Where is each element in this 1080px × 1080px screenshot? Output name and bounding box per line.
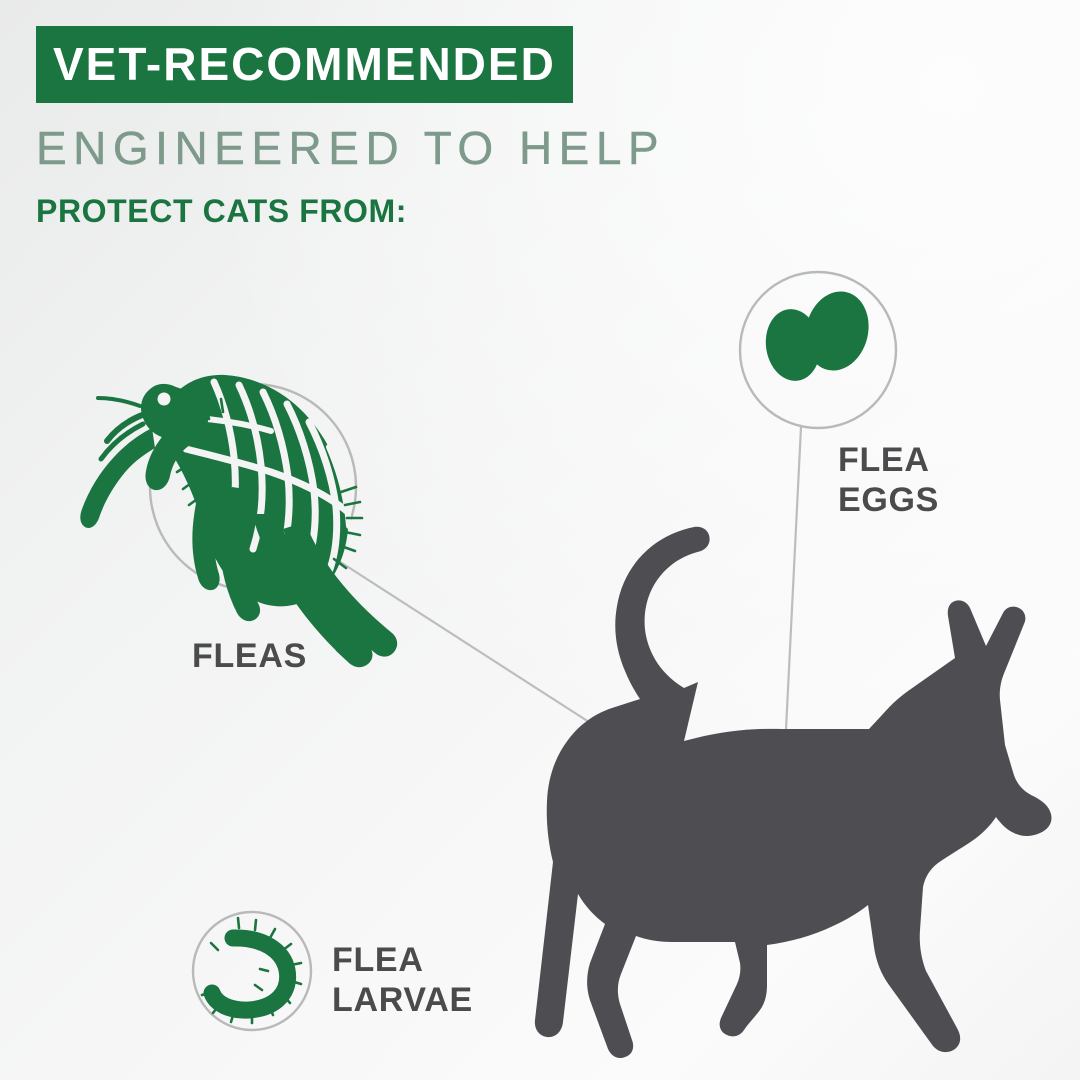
flea-larva-icon: [202, 918, 301, 1023]
flea-eggs-icon: [761, 285, 877, 385]
callout-label-flea-larvae: FLEA LARVAE: [332, 940, 473, 1020]
infographic-canvas: VET-RECOMMENDED ENGINEERED TO HELP PROTE…: [0, 0, 1080, 1080]
callout-label-fleas: FLEAS: [192, 636, 307, 676]
illustration-layer: [0, 0, 1080, 1080]
flea-icon: [80, 375, 397, 667]
callout-label-flea-eggs: FLEA EGGS: [838, 440, 939, 520]
